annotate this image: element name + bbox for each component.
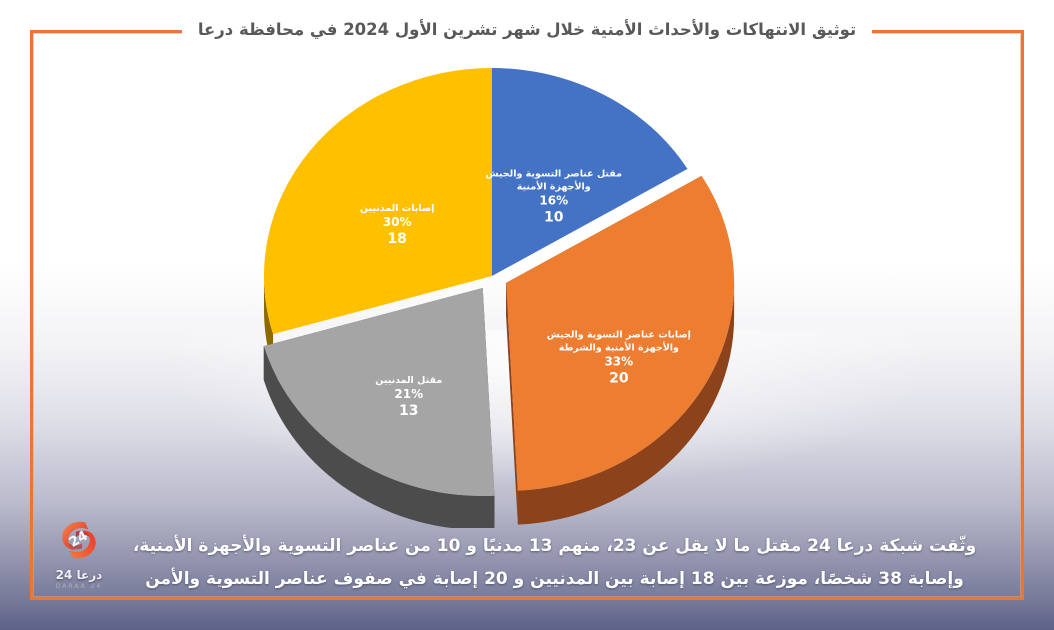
pie-slice-injured-civilians[interactable]	[264, 68, 492, 334]
pie-chart: مقتل عناصر التسوية والجيشوالأجهزة الأمني…	[200, 58, 840, 528]
logo-mark-icon: 24	[53, 514, 105, 566]
infographic-page: توثيق الانتهاكات والأحداث الأمنية خلال ش…	[0, 0, 1054, 630]
logo-wordmark: درعا 24	[56, 568, 103, 582]
page-title: توثيق الانتهاكات والأحداث الأمنية خلال ش…	[182, 17, 872, 44]
caption-line-2: وإصابة 38 شخصًا، موزعة بين 18 إصابة بين …	[110, 563, 999, 596]
caption-line-1: وثّقت شبكة درعا 24 مقتل ما لا يقل عن 23،…	[110, 530, 999, 563]
pie-slices	[264, 68, 734, 496]
pie-chart-svg: مقتل عناصر التسوية والجيشوالأجهزة الأمني…	[200, 58, 840, 528]
daraa-24-logo: 24 درعا 24 DARAA 24	[36, 506, 122, 590]
logo-subtext: DARAA 24	[56, 583, 102, 590]
caption-text: وثّقت شبكة درعا 24 مقتل ما لا يقل عن 23،…	[110, 530, 999, 596]
page-title-container: توثيق الانتهاكات والأحداث الأمنية خلال ش…	[0, 0, 1054, 62]
